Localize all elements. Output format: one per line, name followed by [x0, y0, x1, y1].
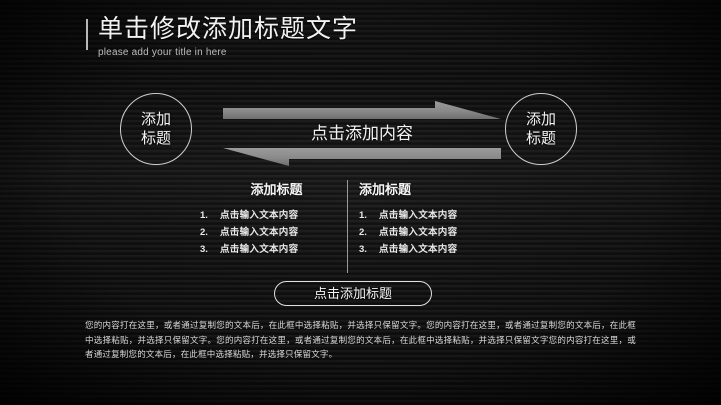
- left-circle-label-line1: 添加: [141, 110, 171, 129]
- arrow-left-icon: [223, 146, 501, 168]
- right-circle-label-line2: 标题: [526, 129, 556, 148]
- list-item[interactable]: 1. 点击输入文本内容: [359, 207, 490, 224]
- list-item-label: 点击输入文本内容: [379, 241, 457, 258]
- column-right-heading: 添加标题: [359, 180, 490, 200]
- list-item-label: 点击输入文本内容: [220, 224, 298, 241]
- column-left: 添加标题 1. 点击输入文本内容 2. 点击输入文本内容 3. 点击输入文本内容: [200, 180, 345, 258]
- list-item[interactable]: 3. 点击输入文本内容: [200, 241, 331, 258]
- bottom-paragraph: 您的内容打在这里，或者通过复制您的文本后，在此框中选择粘贴，并选择只保留文字。您…: [85, 318, 636, 362]
- column-right: 添加标题 1. 点击输入文本内容 2. 点击输入文本内容 3. 点击输入文本内容: [345, 180, 490, 258]
- add-title-button[interactable]: 点击添加标题: [274, 281, 432, 306]
- left-circle-label-line2: 标题: [141, 129, 171, 148]
- list-item-number: 1.: [359, 207, 379, 224]
- list-item-number: 1.: [200, 207, 220, 224]
- column-divider: [347, 180, 348, 273]
- right-circle-node[interactable]: 添加 标题: [505, 93, 577, 165]
- list-item[interactable]: 3. 点击输入文本内容: [359, 241, 490, 258]
- list-item[interactable]: 2. 点击输入文本内容: [200, 224, 331, 241]
- list-item[interactable]: 1. 点击输入文本内容: [200, 207, 331, 224]
- center-caption[interactable]: 点击添加内容: [223, 122, 501, 146]
- slide-canvas: 单击修改添加标题文字 please add your title in here…: [0, 0, 721, 405]
- list-item-label: 点击输入文本内容: [220, 207, 298, 224]
- right-circle-label-line1: 添加: [526, 110, 556, 129]
- left-circle-node[interactable]: 添加 标题: [120, 93, 192, 165]
- list-item-number: 2.: [200, 224, 220, 241]
- list-item[interactable]: 2. 点击输入文本内容: [359, 224, 490, 241]
- list-item-label: 点击输入文本内容: [379, 207, 457, 224]
- page-subtitle: please add your title in here: [98, 46, 227, 60]
- arrow-right-icon: [223, 99, 501, 121]
- list-item-label: 点击输入文本内容: [379, 224, 457, 241]
- page-title: 单击修改添加标题文字: [98, 12, 358, 46]
- list-item-number: 3.: [200, 241, 220, 258]
- list-item-number: 3.: [359, 241, 379, 258]
- column-left-heading: 添加标题: [200, 180, 331, 200]
- list-item-label: 点击输入文本内容: [220, 241, 298, 258]
- title-accent-bar: [86, 19, 88, 50]
- list-item-number: 2.: [359, 224, 379, 241]
- two-column-lists: 添加标题 1. 点击输入文本内容 2. 点击输入文本内容 3. 点击输入文本内容…: [200, 180, 490, 258]
